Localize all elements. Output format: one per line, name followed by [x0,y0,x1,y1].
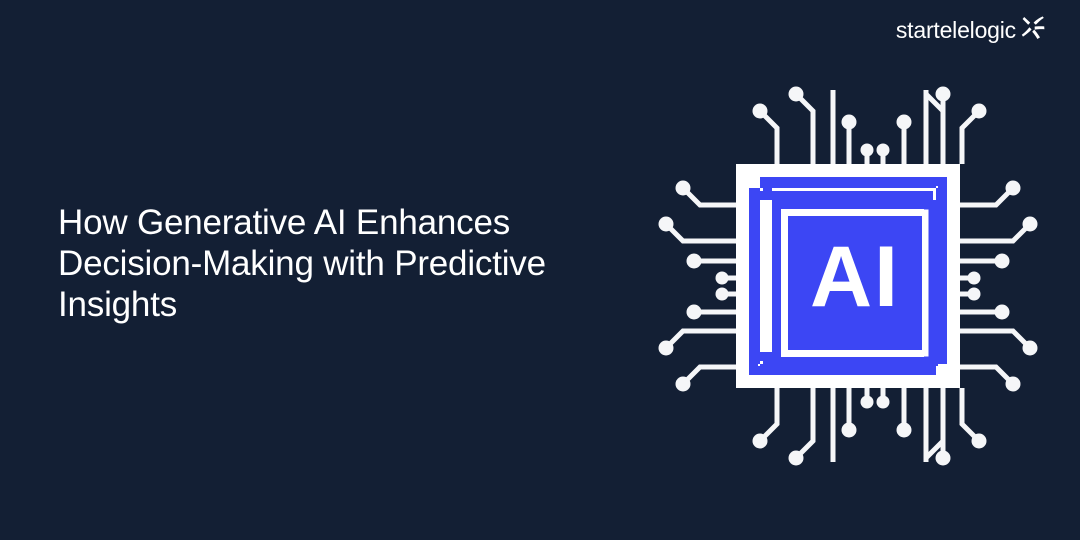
chip-traces-right [960,181,1038,392]
starburst-asterisk-icon [1020,14,1046,40]
chip-ai-label: AI [810,229,900,325]
banner-root: startelelogic How Generative AI Enhances… [0,0,1080,540]
ai-microchip-illustration: AI [650,78,1046,474]
brand-name-text: startelelogic [896,19,1016,42]
page-title: How Generative AI Enhances Decision-Maki… [58,202,628,325]
brand-logo[interactable]: startelelogic [896,13,1046,47]
chip-traces-bottom [753,388,987,466]
chip-traces-top [753,87,987,165]
chip-traces-left [659,181,737,392]
